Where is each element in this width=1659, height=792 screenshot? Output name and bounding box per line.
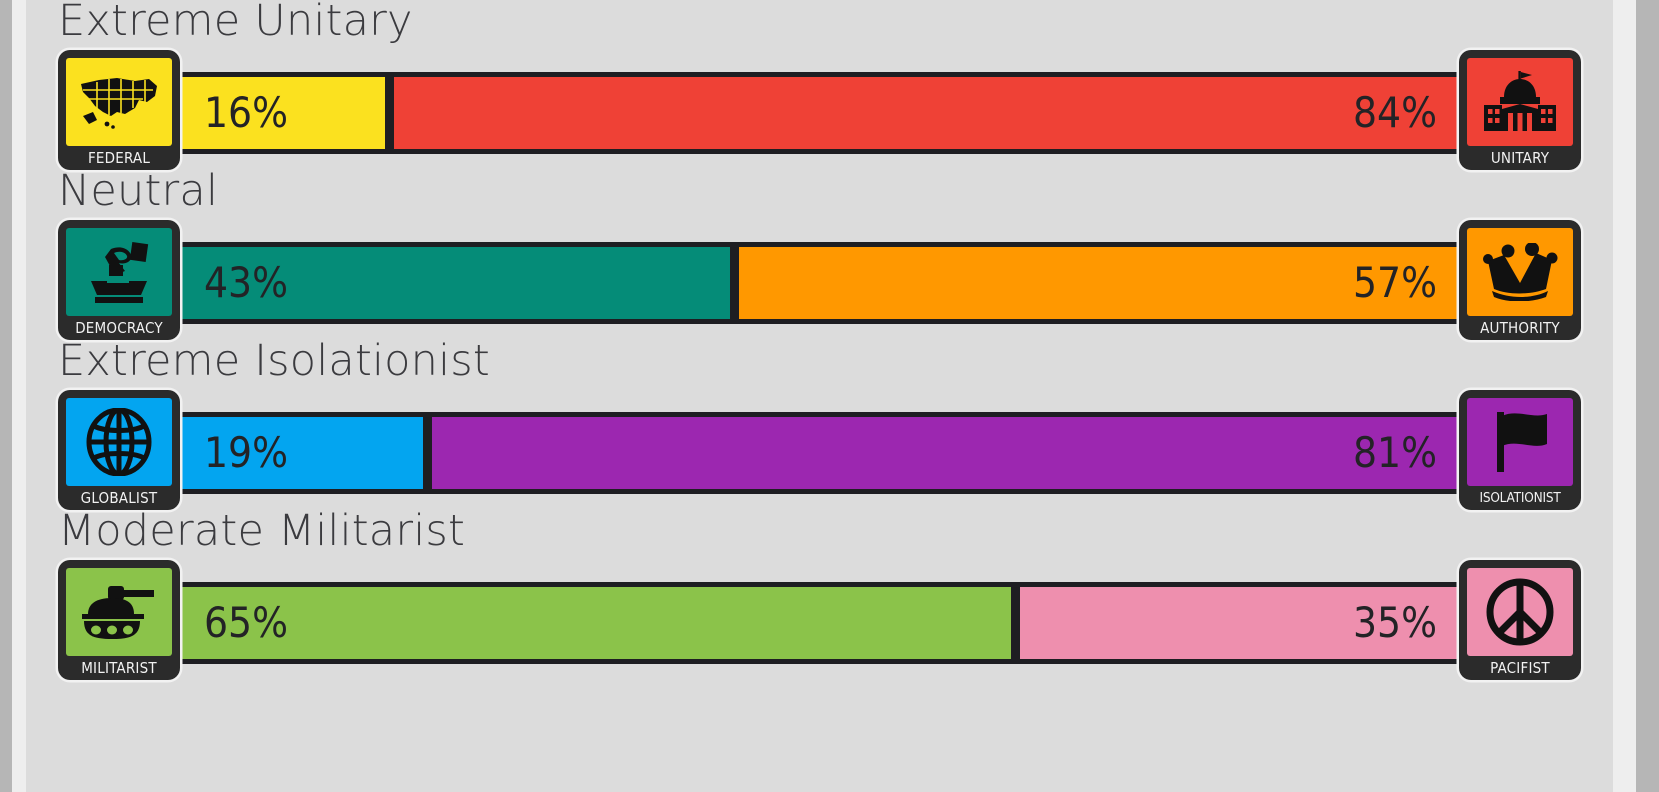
stacked-bar: 65% 35% <box>180 582 1459 664</box>
usa-map-icon <box>77 72 161 132</box>
tile-swatch <box>66 568 172 656</box>
bar-value-right: 57% <box>1331 262 1459 304</box>
row-bar-area: GLOBALIST 19% 81% <box>26 390 1613 510</box>
tile-swatch <box>1467 398 1573 486</box>
tile-swatch <box>1467 228 1573 316</box>
bar-segment-left: 43% <box>180 247 730 319</box>
tile-unitary[interactable]: UNITARY <box>1459 50 1581 170</box>
capitol-building-icon <box>1480 71 1560 133</box>
bar-value-left: 19% <box>180 432 310 474</box>
bar-value-left: 65% <box>180 602 310 644</box>
tile-label: DEMOCRACY <box>75 316 163 340</box>
flag-icon <box>1487 410 1553 474</box>
next-row-title-peek: Moderate <box>26 680 1613 700</box>
tile-swatch <box>1467 568 1573 656</box>
row-title: Neutral <box>26 170 1613 213</box>
scrollbar-thumb[interactable] <box>1636 0 1659 792</box>
tile-swatch <box>66 58 172 146</box>
bar-divider <box>1011 587 1020 659</box>
axis-row-democracy: Neutral DEMOCRACY <box>26 170 1613 340</box>
tile-label: ISOLATIONIST <box>1479 486 1560 510</box>
stacked-bar: 19% 81% <box>180 412 1459 494</box>
tile-label: GLOBALIST <box>81 486 158 510</box>
row-title: Extreme Isolationist <box>26 340 1613 383</box>
row-title: Moderate Militarist <box>26 510 1613 553</box>
bar-segment-left: 16% <box>180 77 385 149</box>
bar-divider <box>730 247 739 319</box>
bar-segment-right: 84% <box>394 77 1459 149</box>
bar-value-right: 81% <box>1331 432 1459 474</box>
tank-icon <box>78 584 160 640</box>
tile-label: FEDERAL <box>88 146 150 170</box>
tile-globalist[interactable]: GLOBALIST <box>58 390 180 510</box>
bar-divider <box>385 77 394 149</box>
tile-pacifist[interactable]: PACIFIST <box>1459 560 1581 680</box>
tile-militarist[interactable]: MILITARIST <box>58 560 180 680</box>
globe-icon <box>83 408 155 476</box>
stacked-bar: 16% 84% <box>180 72 1459 154</box>
tile-authority[interactable]: AUTHORITY <box>1459 220 1581 340</box>
bar-value-left: 43% <box>180 262 310 304</box>
tile-isolationist[interactable]: ISOLATIONIST <box>1459 390 1581 510</box>
bar-divider <box>423 417 432 489</box>
axis-row-militarist: Moderate Militarist <box>26 510 1613 680</box>
row-bar-area: MILITARIST 65% 35% <box>26 560 1613 680</box>
axis-row-isolationist: Extreme Isolationist <box>26 340 1613 510</box>
scrollbar-track[interactable] <box>1613 0 1659 792</box>
results-viewport: Extreme Unitary FEDERAL <box>0 0 1659 792</box>
bar-segment-left: 19% <box>180 417 423 489</box>
tile-swatch <box>66 398 172 486</box>
tile-label: MILITARIST <box>81 656 157 680</box>
bar-segment-right: 81% <box>432 417 1459 489</box>
bar-segment-left: 65% <box>180 587 1011 659</box>
tile-swatch <box>66 228 172 316</box>
ballot-box-icon <box>81 241 157 303</box>
axis-row-unitary: Extreme Unitary FEDERAL <box>26 0 1613 170</box>
bar-value-right: 84% <box>1331 92 1459 134</box>
bar-value-right: 35% <box>1331 602 1459 644</box>
tile-swatch <box>1467 58 1573 146</box>
peace-sign-icon <box>1484 576 1556 648</box>
next-row-title: Moderate <box>58 680 263 684</box>
bar-segment-right: 57% <box>739 247 1459 319</box>
tile-label: UNITARY <box>1491 146 1549 170</box>
tile-label: PACIFIST <box>1490 656 1550 680</box>
results-content: Extreme Unitary FEDERAL <box>26 0 1613 792</box>
row-bar-area: DEMOCRACY 43% 57% <box>26 220 1613 340</box>
crown-icon <box>1480 243 1560 301</box>
tile-label: AUTHORITY <box>1480 316 1560 340</box>
left-page-gutter <box>12 0 26 792</box>
stacked-bar: 43% 57% <box>180 242 1459 324</box>
tile-federal[interactable]: FEDERAL <box>58 50 180 170</box>
bar-value-left: 16% <box>180 92 310 134</box>
tile-democracy[interactable]: DEMOCRACY <box>58 220 180 340</box>
row-bar-area: FEDERAL 16% 84% <box>26 50 1613 170</box>
bar-segment-right: 35% <box>1020 587 1459 659</box>
row-title: Extreme Unitary <box>26 0 1613 43</box>
